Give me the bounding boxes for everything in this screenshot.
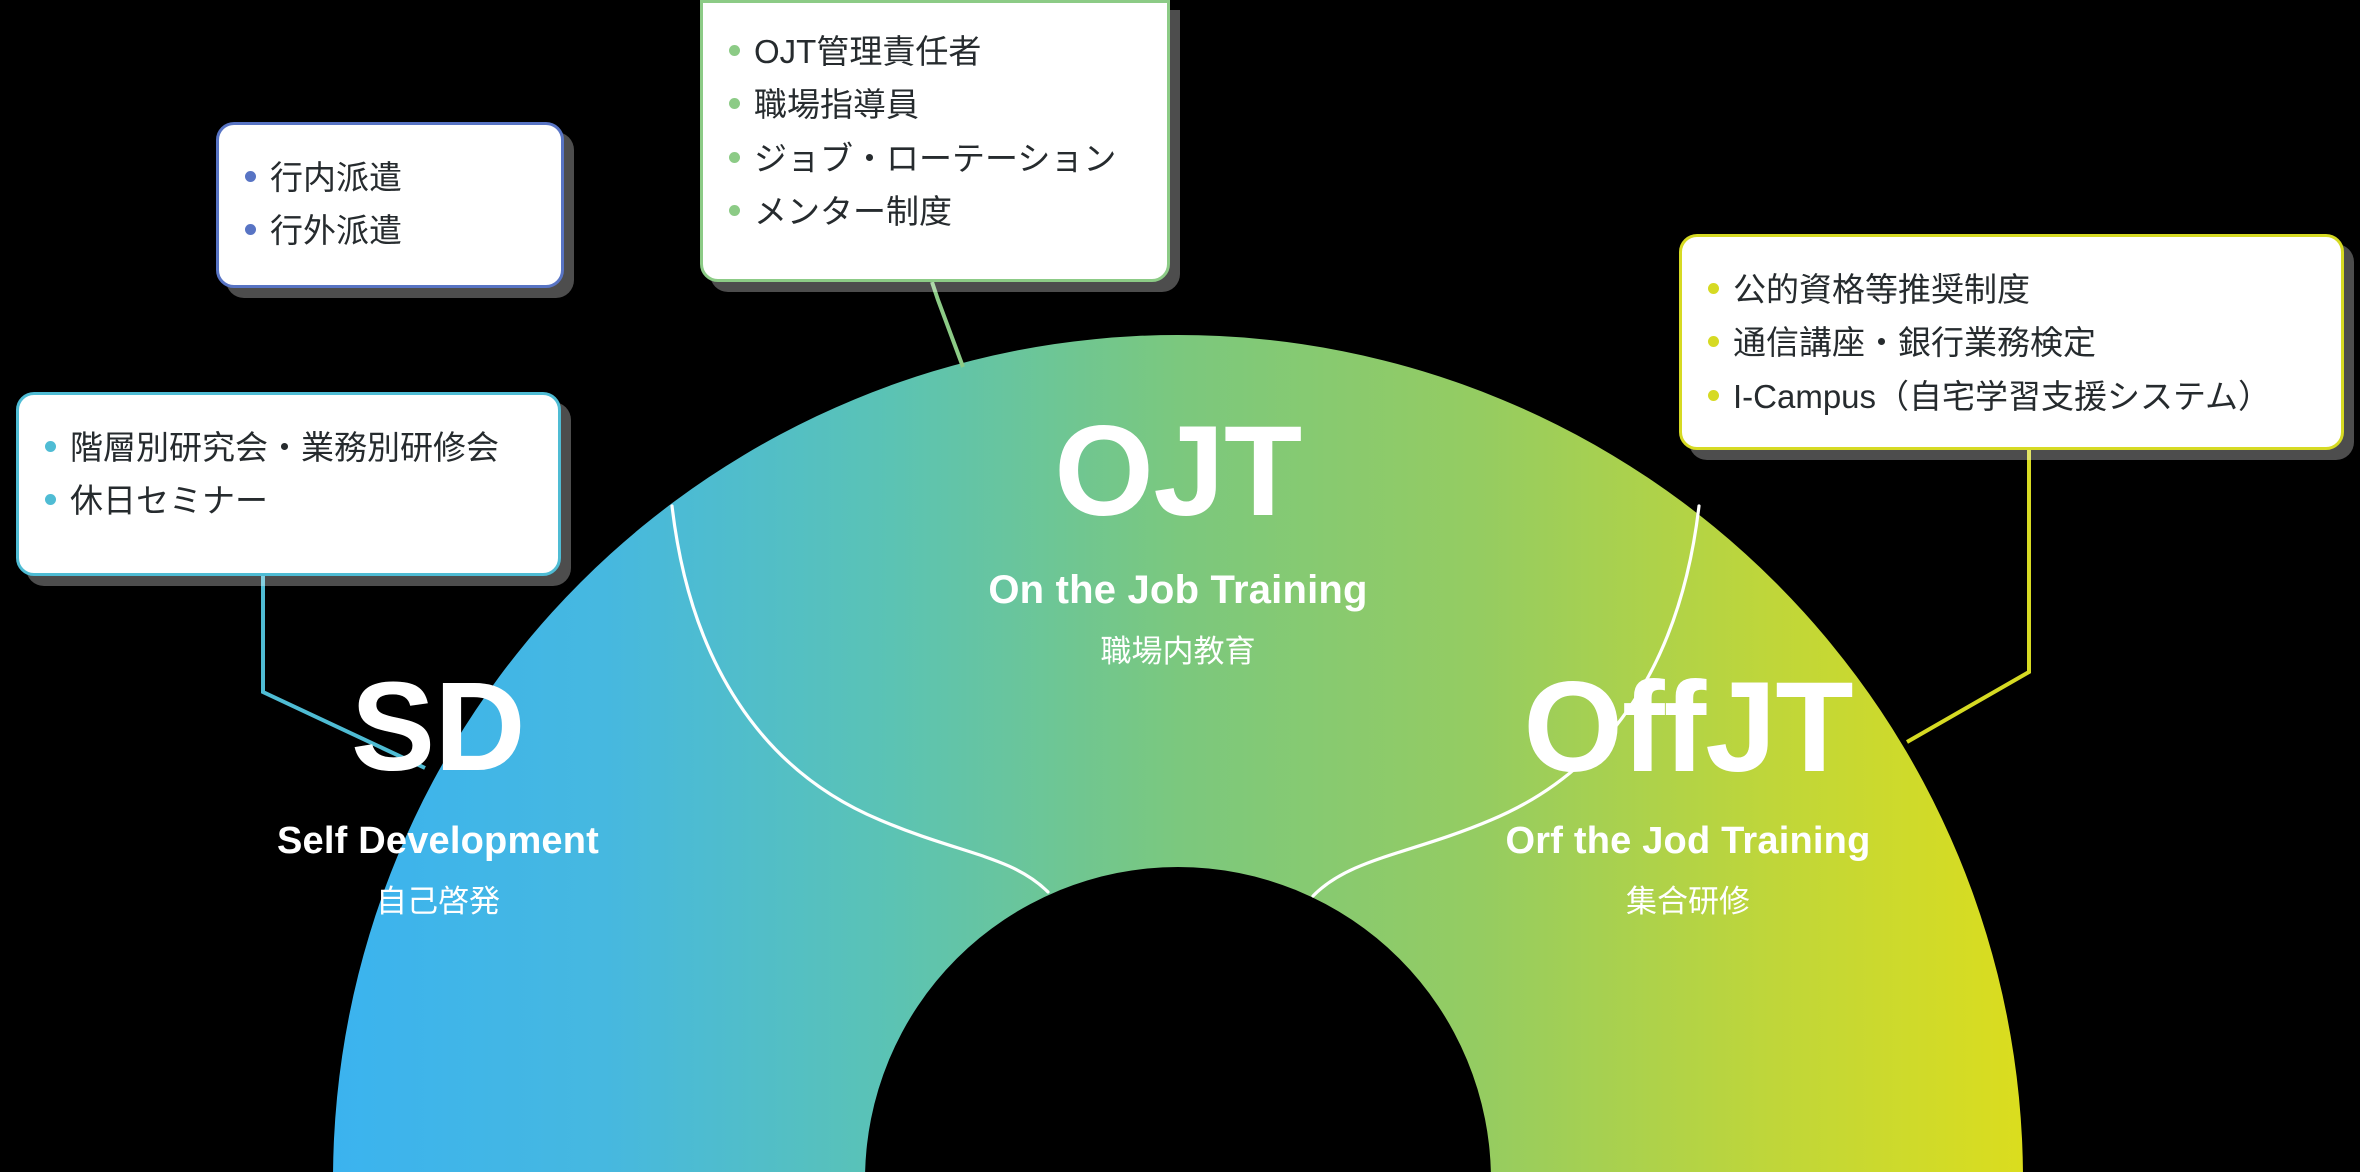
list-item-label: 公的資格等推奨制度 xyxy=(1733,263,2030,316)
list-item: メンター制度 xyxy=(729,185,1137,238)
segment-english-offjt: Orf the Jod Training xyxy=(1398,822,1978,860)
callout-dispatch: 行内派遣 行外派遣 xyxy=(216,122,564,288)
segment-english-sd: Self Development xyxy=(238,822,638,860)
list-item: 休日セミナー xyxy=(45,474,528,527)
list-item-label: 行外派遣 xyxy=(270,204,402,257)
segment-abbr-offjt: OffJT xyxy=(1398,664,1978,792)
list-item: 階層別研究会・業務別研修会 xyxy=(45,421,528,474)
segment-label-sd: SD Self Development 自己啓発 xyxy=(238,664,638,917)
bullet-icon xyxy=(729,205,740,216)
list-item-label: 職場指導員 xyxy=(754,78,919,131)
list-item: OJT管理責任者 xyxy=(729,25,1137,78)
list-item-label: I-Campus（自宅学習支援システム） xyxy=(1733,370,2271,423)
list-item-label: 階層別研究会・業務別研修会 xyxy=(70,421,499,474)
bullet-icon xyxy=(729,98,740,109)
segment-label-ojt: OJT On the Job Training 職場内教育 xyxy=(878,408,1478,667)
segment-abbr-ojt: OJT xyxy=(878,408,1478,536)
bullet-icon xyxy=(1708,336,1719,347)
list-item: 行内派遣 xyxy=(245,151,531,204)
segment-label-offjt: OffJT Orf the Jod Training 集合研修 xyxy=(1398,664,1978,917)
list-item: 職場指導員 xyxy=(729,78,1137,131)
list-item-label: 休日セミナー xyxy=(70,474,268,527)
bullet-icon xyxy=(1708,283,1719,294)
list-item-label: OJT管理責任者 xyxy=(754,25,981,78)
list-item: ジョブ・ローテーション xyxy=(729,132,1137,185)
list-item: 通信講座・銀行業務検定 xyxy=(1708,316,2311,369)
callout-ojt-items: OJT管理責任者 職場指導員 ジョブ・ローテーション メンター制度 xyxy=(700,0,1170,282)
bullet-icon xyxy=(45,441,56,452)
segment-abbr-sd: SD xyxy=(238,664,638,790)
bullet-icon xyxy=(729,152,740,163)
callout-seminar-list: 階層別研究会・業務別研修会 休日セミナー xyxy=(45,421,528,528)
segment-english-ojt: On the Job Training xyxy=(878,570,1478,610)
list-item: 行外派遣 xyxy=(245,204,531,257)
bullet-icon xyxy=(245,224,256,235)
list-item: 公的資格等推奨制度 xyxy=(1708,263,2311,316)
callout-qualification-list: 公的資格等推奨制度 通信講座・銀行業務検定 I-Campus（自宅学習支援システ… xyxy=(1708,263,2311,423)
callout-ojt-list: OJT管理責任者 職場指導員 ジョブ・ローテーション メンター制度 xyxy=(729,25,1137,239)
callout-qualification: 公的資格等推奨制度 通信講座・銀行業務検定 I-Campus（自宅学習支援システ… xyxy=(1679,234,2344,450)
segment-japanese-offjt: 集合研修 xyxy=(1398,886,1978,917)
callout-seminar: 階層別研究会・業務別研修会 休日セミナー xyxy=(16,392,561,576)
callout-dispatch-list: 行内派遣 行外派遣 xyxy=(245,151,531,258)
segment-japanese-sd: 自己啓発 xyxy=(238,886,638,917)
bullet-icon xyxy=(45,494,56,505)
list-item-label: 行内派遣 xyxy=(270,151,402,204)
bullet-icon xyxy=(1708,390,1719,401)
list-item-label: ジョブ・ローテーション xyxy=(754,132,1116,185)
list-item-label: 通信講座・銀行業務検定 xyxy=(1733,316,2096,369)
list-item-label: メンター制度 xyxy=(754,185,952,238)
bullet-icon xyxy=(245,171,256,182)
list-item: I-Campus（自宅学習支援システム） xyxy=(1708,370,2311,423)
diagram-canvas: OJT On the Job Training 職場内教育 SD Self De… xyxy=(0,0,2360,1172)
segment-japanese-ojt: 職場内教育 xyxy=(878,636,1478,667)
bullet-icon xyxy=(729,45,740,56)
